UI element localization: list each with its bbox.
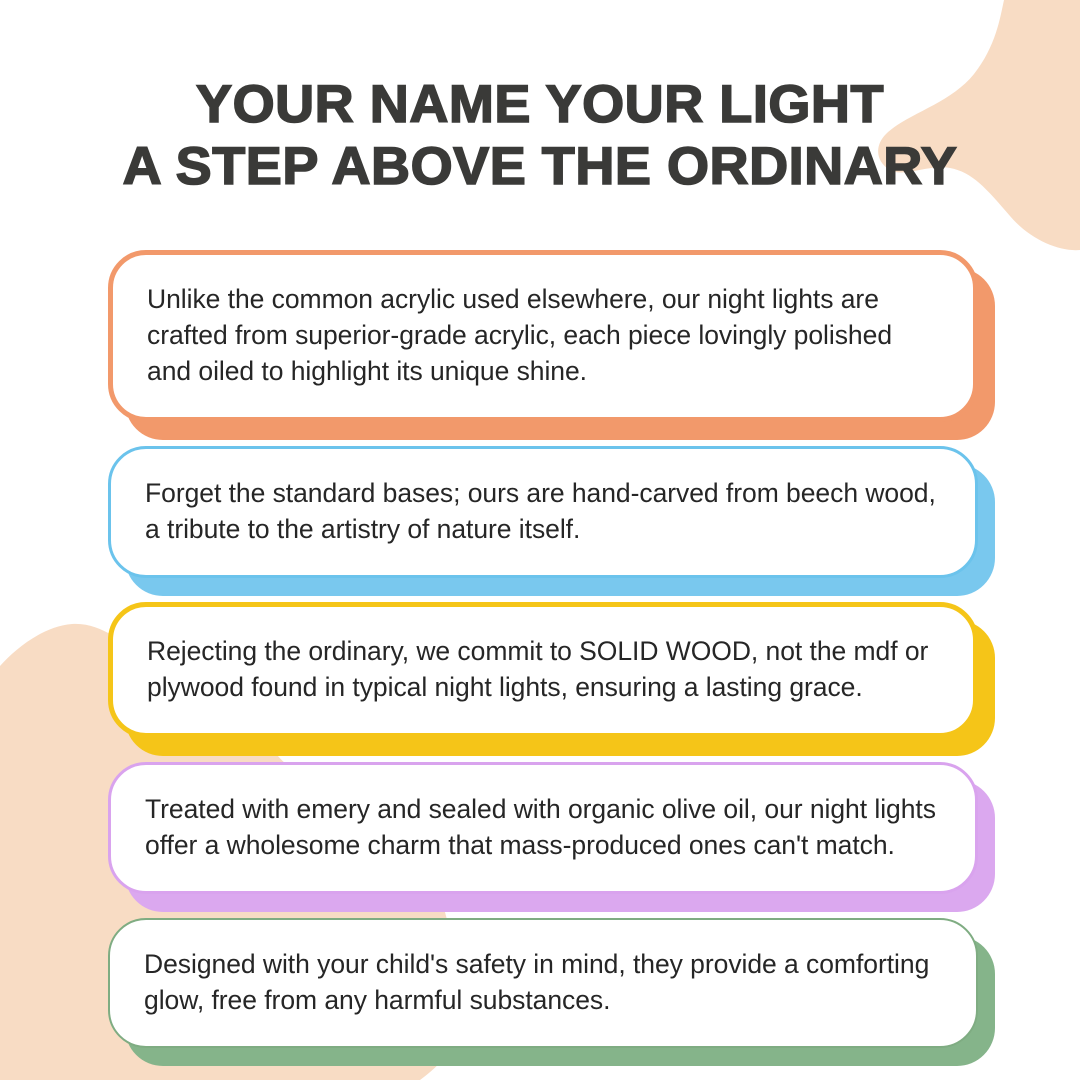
poster-root: YOUR NAME YOUR LIGHT A STEP ABOVE THE OR… (0, 0, 1080, 1080)
card-body: Designed with your child's safety in min… (108, 918, 978, 1048)
card-text: Treated with emery and sealed with organ… (145, 791, 941, 863)
card-body: Unlike the common acrylic used elsewhere… (108, 250, 978, 422)
headline-line-1: YOUR NAME YOUR LIGHT (0, 74, 1080, 136)
feature-card-card-child-safety: Designed with your child's safety in min… (108, 918, 978, 1048)
feature-card-card-beech-wood: Forget the standard bases; ours are hand… (108, 446, 978, 578)
card-text: Designed with your child's safety in min… (144, 946, 942, 1018)
feature-card-list: Unlike the common acrylic used elsewhere… (0, 250, 1080, 1072)
card-body: Treated with emery and sealed with organ… (108, 762, 978, 894)
card-text: Unlike the common acrylic used elsewhere… (147, 281, 939, 389)
card-body: Forget the standard bases; ours are hand… (108, 446, 978, 578)
feature-card-card-olive-oil: Treated with emery and sealed with organ… (108, 762, 978, 894)
card-body: Rejecting the ordinary, we commit to SOL… (108, 602, 978, 738)
feature-card-card-solid-wood: Rejecting the ordinary, we commit to SOL… (108, 602, 978, 738)
headline-line-2: A STEP ABOVE THE ORDINARY (0, 136, 1080, 198)
card-text: Forget the standard bases; ours are hand… (145, 475, 941, 547)
card-text: Rejecting the ordinary, we commit to SOL… (147, 633, 939, 705)
page-title: YOUR NAME YOUR LIGHT A STEP ABOVE THE OR… (0, 74, 1080, 198)
feature-card-card-acrylic: Unlike the common acrylic used elsewhere… (108, 250, 978, 422)
